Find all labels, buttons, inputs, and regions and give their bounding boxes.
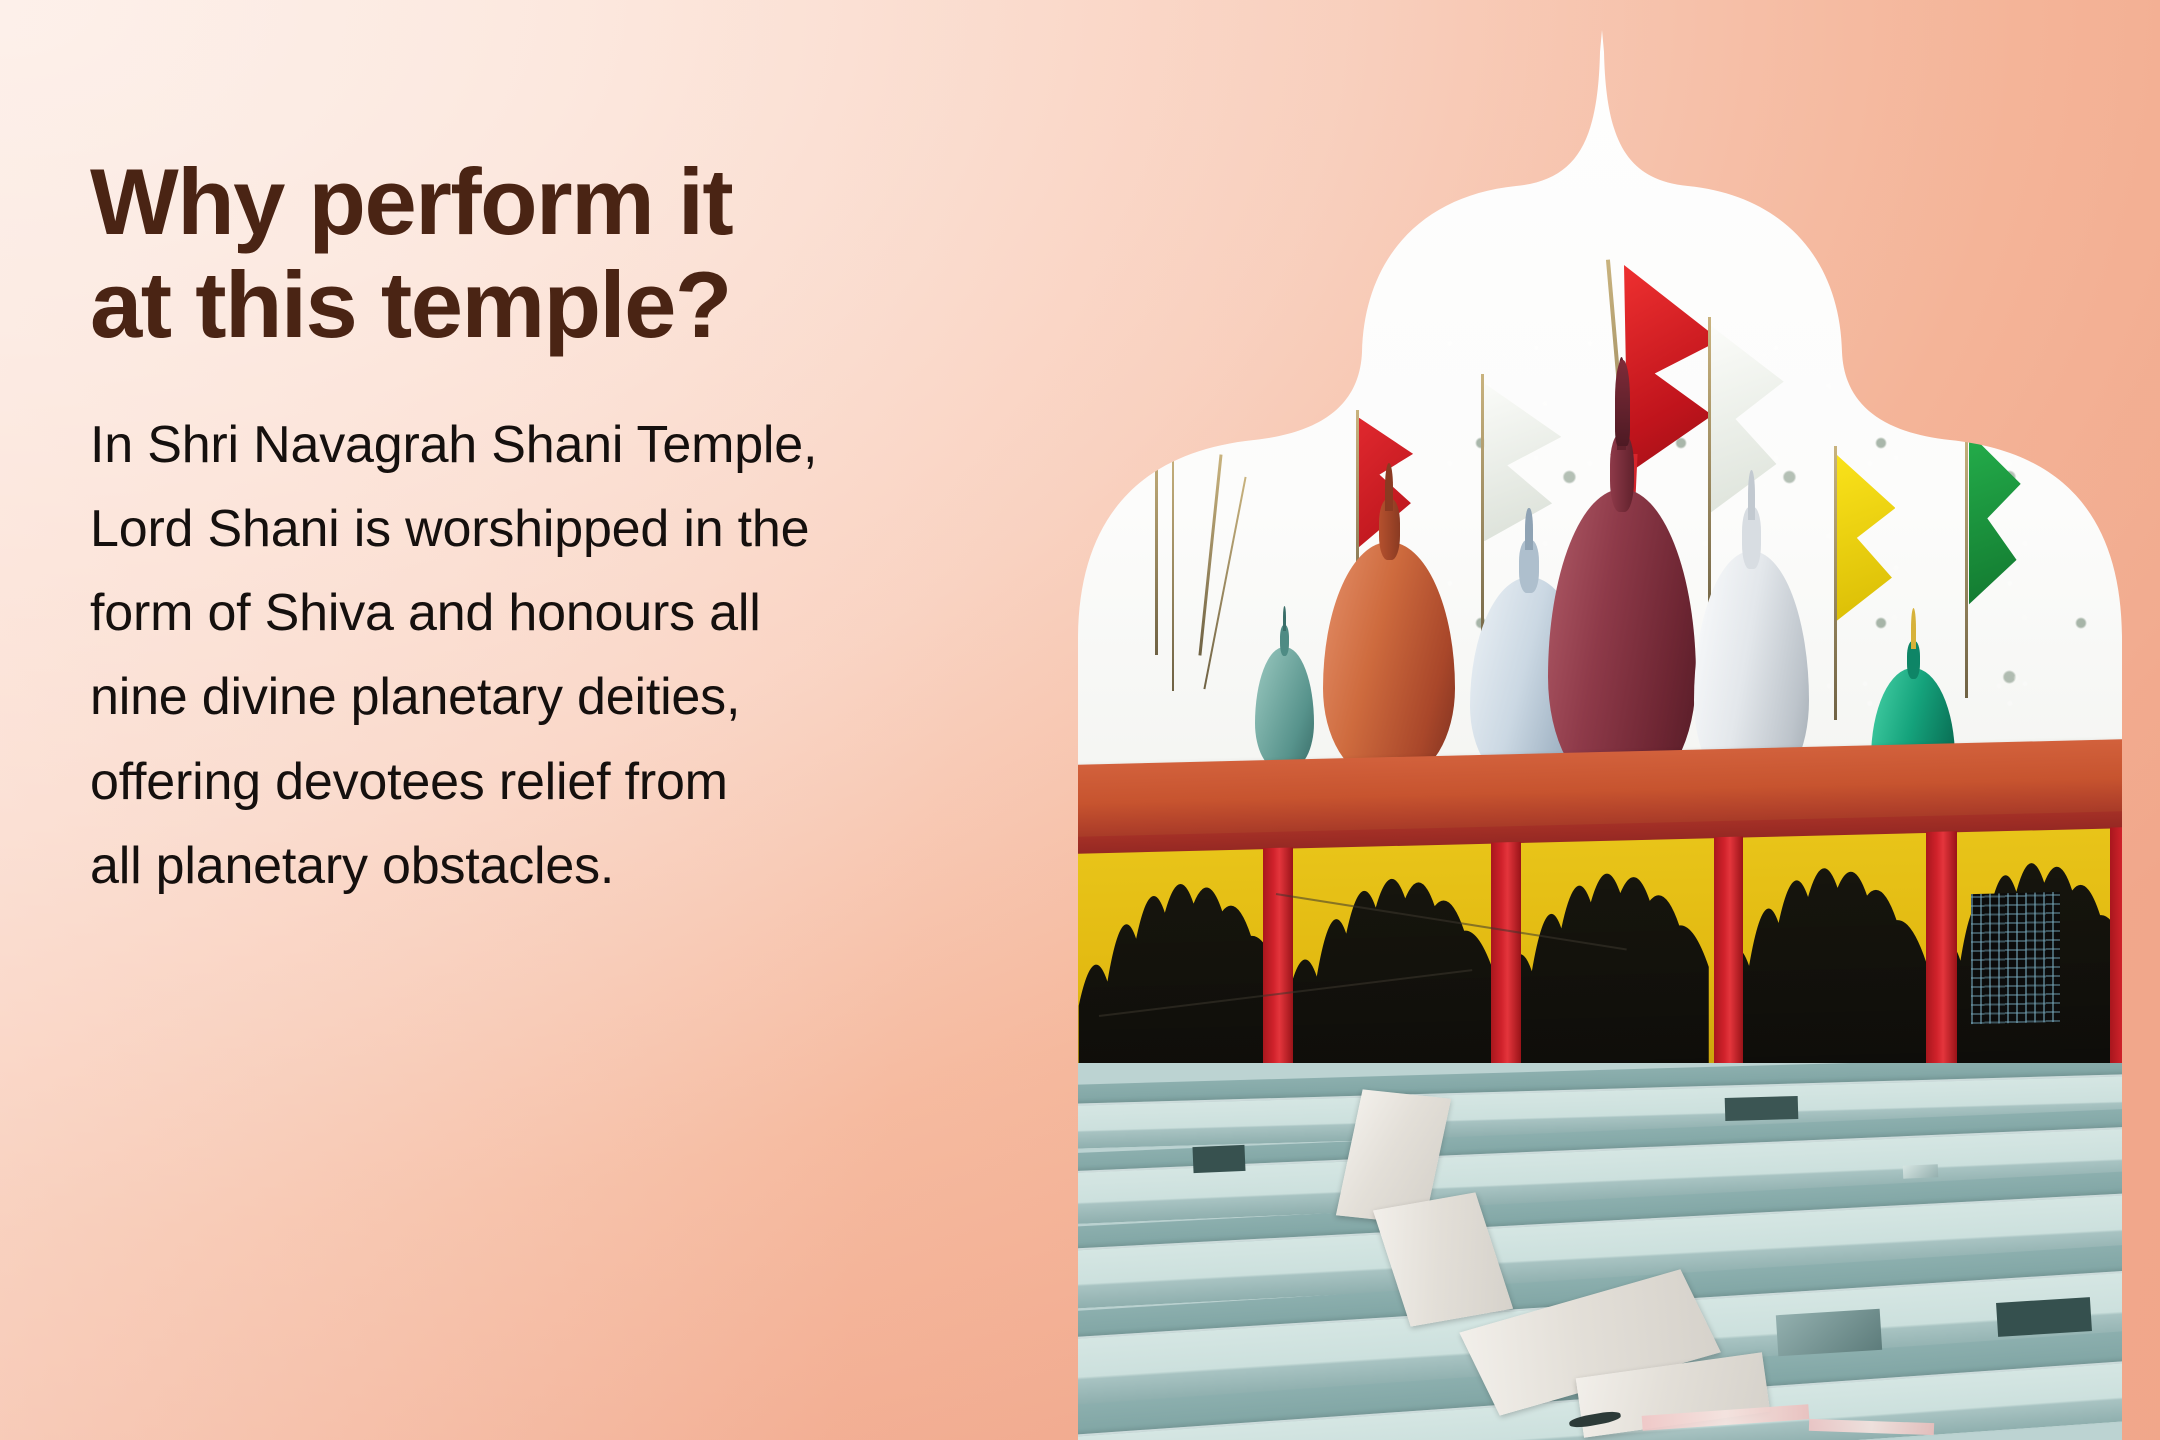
- pillar-5: [1926, 831, 1957, 1077]
- temple-photo-panel: [1078, 0, 2122, 1440]
- pillar-3: [1491, 841, 1520, 1087]
- dome-maroon-finial: [1615, 360, 1631, 446]
- dome-copper: [1323, 475, 1455, 777]
- step-recess-mid: [1725, 1096, 1799, 1121]
- step-recess-left: [1192, 1145, 1245, 1174]
- flag-pole-green: [1965, 425, 1968, 699]
- step-small-block: [1902, 1164, 1938, 1178]
- dome-maroon-central: [1548, 403, 1696, 792]
- flag-pole-yellow: [1834, 446, 1837, 720]
- flag-pole-thin-left: [1155, 439, 1158, 655]
- stone-steps: [1078, 1063, 2122, 1440]
- window-grille: [1971, 892, 2060, 1024]
- pillar-4: [1714, 836, 1743, 1082]
- temple-pillars: [1078, 826, 2122, 1097]
- dome-white: [1694, 482, 1809, 792]
- text-column: Why perform it at this temple? In Shri N…: [90, 150, 1010, 908]
- page-title: Why perform it at this temple?: [90, 150, 1010, 357]
- pillar-6: [2110, 826, 2122, 1072]
- antenna-rod-left: [1172, 446, 1174, 691]
- pillar-2: [1263, 847, 1292, 1093]
- dome-teal-far-left: [1255, 612, 1313, 770]
- step-block-right: [1776, 1308, 1883, 1356]
- body-paragraph: In Shri Navagrah Shani Temple, Lord Shan…: [90, 403, 1010, 908]
- temple-photograph: [1078, 0, 2122, 1440]
- step-recess-right: [1996, 1297, 2092, 1337]
